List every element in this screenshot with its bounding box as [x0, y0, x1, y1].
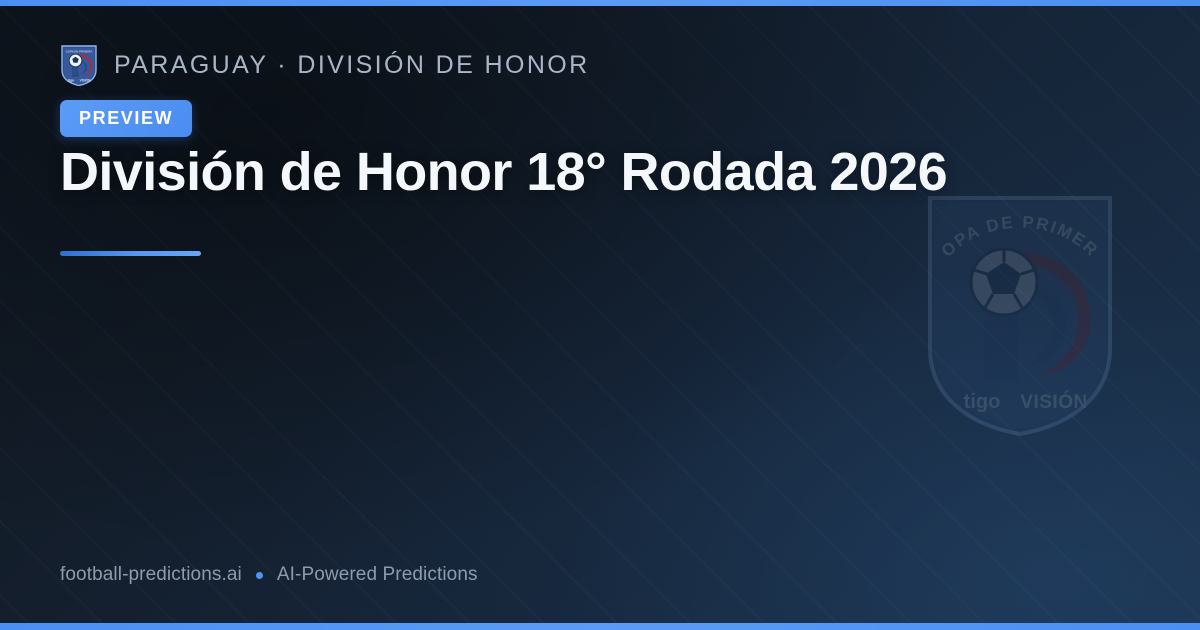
card-content: COPA DE PRIMERA tigo VISIÓN PARAGUAY · D… — [60, 0, 960, 630]
footer: football-predictions.ai AI-Powered Predi… — [60, 564, 478, 586]
league-breadcrumb: COPA DE PRIMERA tigo VISIÓN PARAGUAY · D… — [60, 44, 590, 86]
page-title: División de Honor 18° Rodada 2026 — [60, 142, 980, 202]
footer-site-name: football-predictions.ai — [60, 564, 242, 586]
title-accent-underline — [60, 251, 201, 256]
svg-text:COPA DE PRIMERA: COPA DE PRIMERA — [66, 49, 93, 53]
league-breadcrumb-label: PARAGUAY · DIVISIÓN DE HONOR — [114, 51, 590, 80]
svg-text:VISIÓN: VISIÓN — [80, 77, 92, 82]
blue-dot-icon — [256, 572, 263, 579]
og-preview-card: COPA DE PRIMERA tigo VISIÓN — [0, 0, 1200, 630]
footer-tagline: AI-Powered Predictions — [277, 564, 478, 586]
status-badge-preview: PREVIEW — [60, 100, 192, 137]
svg-text:tigo: tigo — [68, 78, 74, 82]
copa-de-primera-crest-icon: COPA DE PRIMERA tigo VISIÓN — [60, 44, 98, 86]
svg-text:tigo: tigo — [964, 391, 1001, 413]
svg-text:VISIÓN: VISIÓN — [1020, 391, 1087, 413]
